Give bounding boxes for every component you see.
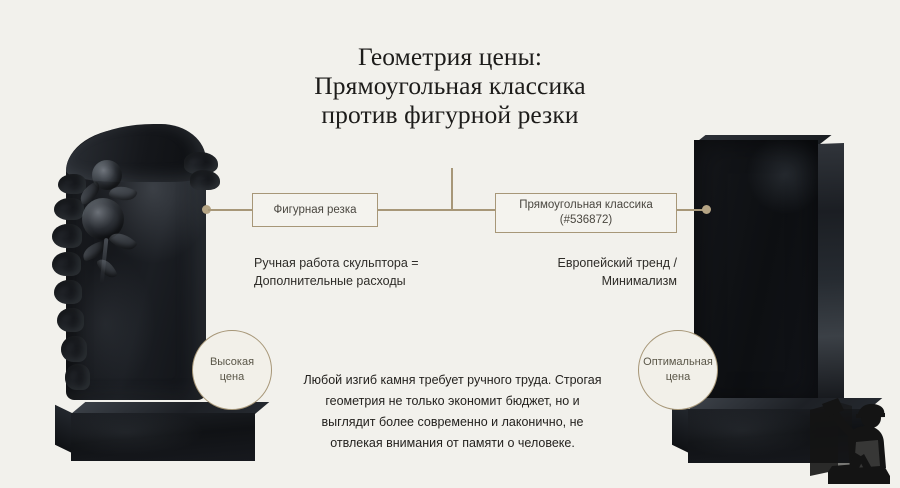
stonemason-logo-icon	[808, 396, 894, 486]
label-box-pryamougolnaya-klassika[interactable]: Прямоугольная классика (#536872)	[495, 193, 677, 233]
scallop-left-6	[57, 308, 84, 332]
monument-image-rectangular	[694, 140, 864, 420]
base-left-side	[55, 405, 72, 453]
infographic-canvas: Геометрия цены: Прямоугольная классика п…	[0, 0, 900, 488]
price-badge-high: Высокая цена	[192, 330, 272, 410]
caption-left: Ручная работа скульптора = Дополнительны…	[254, 254, 474, 290]
base-left-front	[71, 413, 255, 461]
caption-right: Европейский тренд / Минимализм	[455, 254, 677, 290]
rose-relief-carving	[76, 156, 138, 286]
price-badge-optimal: Оптимальная цена	[638, 330, 718, 410]
connector-stem-vertical	[451, 168, 453, 210]
monument-base-left	[55, 402, 255, 464]
scallop-left-7	[61, 336, 87, 362]
connector-line-center-left	[377, 209, 496, 211]
body-paragraph: Любой изгиб камня требует ручного труда.…	[300, 370, 605, 454]
connector-dot-right	[702, 205, 711, 214]
page-title: Геометрия цены: Прямоугольная классика п…	[0, 42, 900, 129]
scallop-right-2	[190, 170, 220, 190]
label-box-figurnaya-rezka[interactable]: Фигурная резка	[252, 193, 378, 227]
scallop-left-8	[65, 364, 90, 390]
slab-side-face	[818, 143, 844, 405]
connector-line-left-outer	[208, 209, 254, 211]
